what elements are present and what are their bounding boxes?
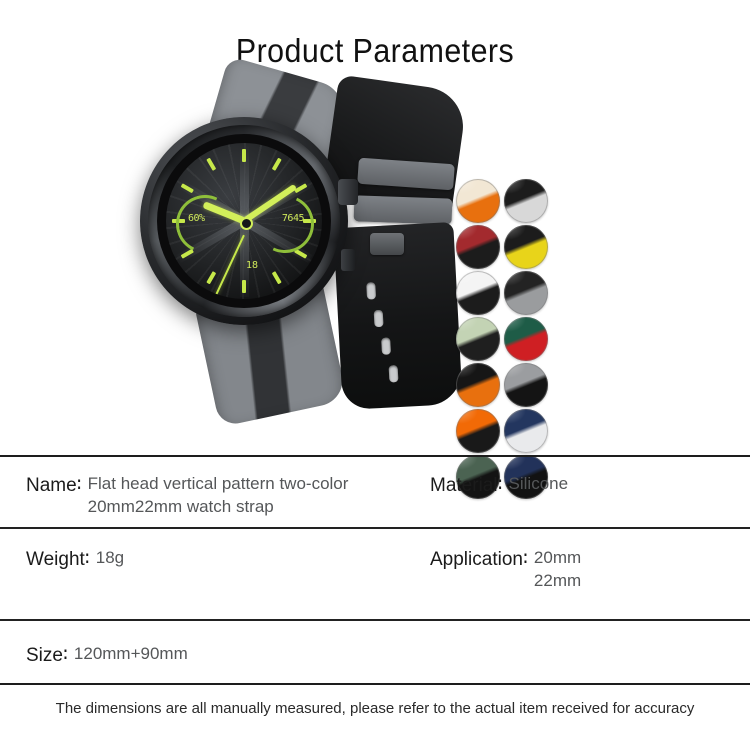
color-swatch-grid (456, 179, 550, 499)
color-swatch-gray-black[interactable] (504, 363, 548, 407)
specification-table: Name∶ Flat head vertical pattern two-col… (0, 455, 750, 685)
color-swatch-orange-black[interactable] (456, 409, 500, 453)
spec-row-weight-application: Weight∶ 18g Application∶ 20mm 22mm (0, 529, 750, 619)
color-swatch-black-gray[interactable] (504, 271, 548, 315)
spec-row-size: Size∶ 120mm+90mm (0, 621, 750, 683)
weight-value: 18g (96, 547, 124, 570)
strap-buckle (370, 233, 404, 255)
watch-product-image: 60% 7645 18 (122, 75, 452, 405)
dial-tick (242, 149, 246, 162)
dial-tick (272, 271, 282, 284)
date-complication: 18 (246, 260, 258, 271)
application-value: 20mm 22mm (534, 547, 581, 593)
color-swatch-navy-white[interactable] (504, 409, 548, 453)
page-title: Product Parameters (30, 0, 720, 67)
watch-crown (338, 179, 358, 205)
watch-pusher (341, 249, 355, 271)
name-label: Name∶ (26, 473, 82, 499)
table-divider (0, 683, 750, 685)
name-value: Flat head vertical pattern two-color 20m… (88, 473, 349, 519)
spec-row-name-material: Name∶ Flat head vertical pattern two-col… (0, 457, 750, 527)
material-value: Silicone (509, 473, 569, 496)
spec-cell-name: Name∶ Flat head vertical pattern two-col… (0, 473, 418, 519)
dial-tick (206, 158, 216, 171)
spec-cell-weight: Weight∶ 18g (0, 547, 418, 573)
weight-label: Weight∶ (26, 547, 90, 573)
strap-hole (389, 365, 399, 382)
color-swatch-black-yellow[interactable] (504, 225, 548, 269)
spec-cell-application: Application∶ 20mm 22mm (418, 547, 750, 593)
spec-cell-size: Size∶ 120mm+90mm (0, 643, 418, 669)
footer-disclaimer: The dimensions are all manually measured… (0, 700, 750, 717)
strap-hole (366, 282, 376, 299)
size-label: Size∶ (26, 643, 68, 669)
size-value: 120mm+90mm (74, 643, 188, 666)
strap-hole (381, 337, 391, 354)
color-swatch-sage-black[interactable] (456, 317, 500, 361)
dial-tick (206, 271, 216, 284)
color-swatch-red-black[interactable] (456, 225, 500, 269)
color-swatch-black-orange[interactable] (456, 363, 500, 407)
dial-pivot (240, 217, 253, 230)
color-swatch-black-white[interactable] (504, 179, 548, 223)
steps-arc (248, 187, 322, 261)
color-swatch-white-black[interactable] (456, 271, 500, 315)
dial-tick (242, 280, 246, 293)
spec-cell-material: Material∶ Silicone (418, 473, 750, 499)
strap-keeper-loop (354, 195, 453, 224)
battery-arc (168, 187, 242, 261)
application-label: Application∶ (430, 547, 528, 573)
watch-dial: 60% 7645 18 (166, 143, 322, 299)
material-label: Material∶ (430, 473, 503, 499)
battery-complication: 60% (188, 213, 205, 224)
product-hero: 60% 7645 18 (0, 67, 750, 417)
color-swatch-green-red[interactable] (504, 317, 548, 361)
color-swatch-orange-cream[interactable] (456, 179, 500, 223)
watch-case: 60% 7645 18 (140, 117, 348, 325)
strap-hole (374, 310, 384, 327)
dial-tick (272, 158, 282, 171)
steps-complication: 7645 (282, 213, 304, 224)
